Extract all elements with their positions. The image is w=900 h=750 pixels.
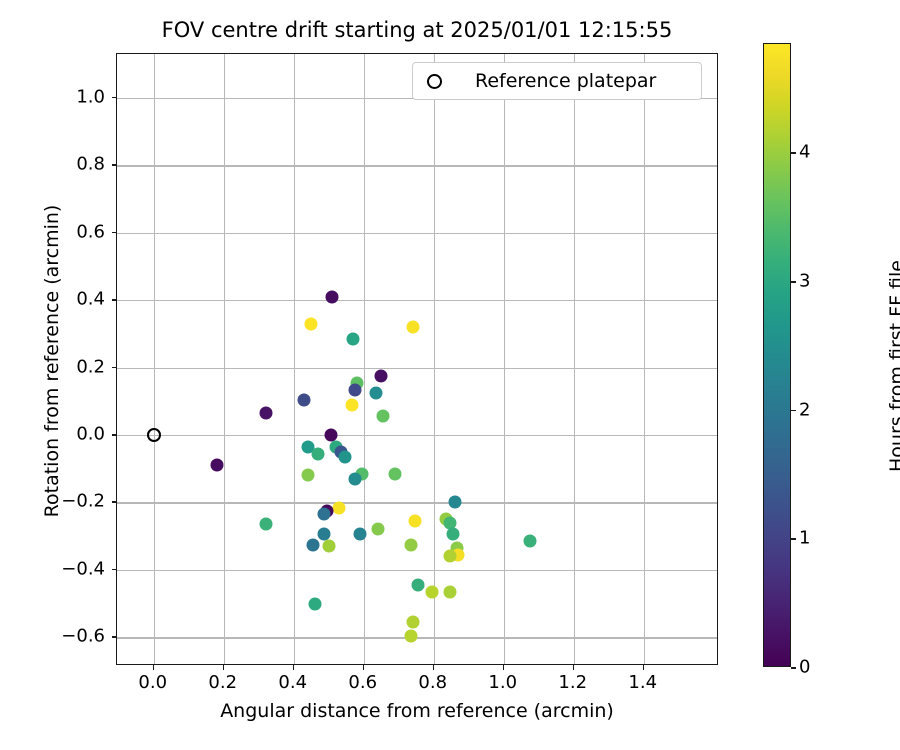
scatter-point bbox=[354, 528, 367, 541]
y-tick-label: −0.6 bbox=[61, 626, 105, 647]
scatter-point bbox=[426, 585, 439, 598]
scatter-point bbox=[338, 450, 351, 463]
scatter-point bbox=[443, 550, 456, 563]
scatter-point bbox=[345, 398, 358, 411]
scatter-point bbox=[371, 523, 384, 536]
gridline-horizontal bbox=[117, 502, 717, 503]
colorbar-label: Hours from first FF file bbox=[886, 54, 900, 678]
y-tick-mark bbox=[112, 636, 117, 638]
scatter-point bbox=[305, 317, 318, 330]
y-tick-mark bbox=[112, 367, 117, 369]
scatter-point bbox=[443, 585, 456, 598]
x-tick-label: 0.8 bbox=[418, 672, 447, 693]
x-tick-label: 1.2 bbox=[558, 672, 587, 693]
scatter-point bbox=[447, 528, 460, 541]
gridline-vertical bbox=[224, 54, 225, 664]
scatter-point bbox=[326, 290, 339, 303]
x-tick-mark bbox=[503, 665, 505, 670]
x-tick-mark bbox=[293, 665, 295, 670]
x-axis-label: Angular distance from reference (arcmin) bbox=[116, 700, 718, 722]
y-tick-label: 0.8 bbox=[76, 154, 105, 175]
y-tick-mark bbox=[112, 434, 117, 436]
gridline-horizontal bbox=[117, 165, 717, 166]
x-tick-mark bbox=[223, 665, 225, 670]
gridline-horizontal bbox=[117, 233, 717, 234]
colorbar-tick-label: 3 bbox=[799, 271, 810, 292]
scatter-point bbox=[333, 501, 346, 514]
y-tick-label: 0.6 bbox=[76, 221, 105, 242]
x-tick-label: 1.0 bbox=[488, 672, 517, 693]
x-tick-mark bbox=[433, 665, 435, 670]
colorbar-tick-label: 2 bbox=[799, 399, 810, 420]
legend: Reference platepar bbox=[412, 62, 702, 100]
scatter-point bbox=[448, 496, 461, 509]
matplotlib-figure: FOV centre drift starting at 2025/01/01 … bbox=[0, 0, 900, 750]
scatter-point bbox=[317, 508, 330, 521]
y-tick-mark bbox=[112, 97, 117, 99]
x-tick-label: 0.4 bbox=[278, 672, 307, 693]
gridline-horizontal bbox=[117, 570, 717, 571]
x-tick-mark bbox=[153, 665, 155, 670]
scatter-point bbox=[377, 410, 390, 423]
colorbar-tick-label: 4 bbox=[799, 142, 810, 163]
y-tick-mark bbox=[112, 569, 117, 571]
gridline-vertical bbox=[434, 54, 435, 664]
colorbar-tick-mark bbox=[791, 281, 796, 283]
gridline-vertical bbox=[294, 54, 295, 664]
scatter-point bbox=[259, 518, 272, 531]
colorbar-tick-label: 1 bbox=[799, 528, 810, 549]
scatter-point bbox=[370, 386, 383, 399]
y-tick-label: 1.0 bbox=[76, 86, 105, 107]
y-tick-label: −0.2 bbox=[61, 491, 105, 512]
x-tick-label: 0.6 bbox=[348, 672, 377, 693]
scatter-plot-axes bbox=[116, 53, 718, 665]
scatter-point bbox=[312, 447, 325, 460]
y-axis-label: Rotation from reference (arcmin) bbox=[41, 55, 63, 667]
gridline-vertical bbox=[364, 54, 365, 664]
scatter-point bbox=[389, 467, 402, 480]
colorbar-tick-mark bbox=[791, 410, 796, 412]
scatter-point bbox=[349, 472, 362, 485]
gridline-vertical bbox=[574, 54, 575, 664]
scatter-point bbox=[375, 370, 388, 383]
scatter-point bbox=[406, 616, 419, 629]
y-tick-label: 0.2 bbox=[76, 356, 105, 377]
gridline-horizontal bbox=[117, 300, 717, 301]
gridline-vertical bbox=[504, 54, 505, 664]
scatter-point bbox=[298, 393, 311, 406]
scatter-point bbox=[210, 459, 223, 472]
gridline-horizontal bbox=[117, 435, 717, 436]
legend-item-label: Reference platepar bbox=[475, 70, 656, 92]
gridline-vertical bbox=[644, 54, 645, 664]
y-tick-mark bbox=[112, 164, 117, 166]
reference-platepar-marker bbox=[147, 428, 161, 442]
scatter-point bbox=[524, 535, 537, 548]
legend-open-circle-icon bbox=[427, 74, 442, 89]
x-tick-label: 1.4 bbox=[628, 672, 657, 693]
scatter-point bbox=[408, 515, 421, 528]
colorbar-tick-mark bbox=[791, 152, 796, 154]
scatter-point bbox=[405, 629, 418, 642]
gridline-vertical bbox=[154, 54, 155, 664]
scatter-point bbox=[412, 579, 425, 592]
colorbar-tick-mark bbox=[791, 667, 796, 669]
x-tick-mark bbox=[573, 665, 575, 670]
y-tick-mark bbox=[112, 232, 117, 234]
colorbar-tick-mark bbox=[791, 538, 796, 540]
y-tick-mark bbox=[112, 501, 117, 503]
y-tick-label: −0.4 bbox=[61, 558, 105, 579]
colorbar-tick-label: 0 bbox=[799, 657, 810, 678]
x-tick-label: 0.0 bbox=[138, 672, 167, 693]
scatter-point bbox=[307, 538, 320, 551]
scatter-point bbox=[301, 469, 314, 482]
gridline-horizontal bbox=[117, 368, 717, 369]
scatter-point bbox=[259, 407, 272, 420]
colorbar bbox=[763, 43, 791, 667]
y-tick-mark bbox=[112, 299, 117, 301]
page-title: FOV centre drift starting at 2025/01/01 … bbox=[116, 18, 718, 42]
scatter-point bbox=[347, 332, 360, 345]
x-tick-mark bbox=[643, 665, 645, 670]
x-tick-mark bbox=[363, 665, 365, 670]
scatter-point bbox=[322, 540, 335, 553]
scatter-point bbox=[308, 597, 321, 610]
scatter-point bbox=[349, 383, 362, 396]
scatter-point bbox=[406, 321, 419, 334]
scatter-point bbox=[405, 538, 418, 551]
y-tick-label: 0.0 bbox=[76, 424, 105, 445]
y-tick-label: 0.4 bbox=[76, 289, 105, 310]
x-tick-label: 0.2 bbox=[208, 672, 237, 693]
